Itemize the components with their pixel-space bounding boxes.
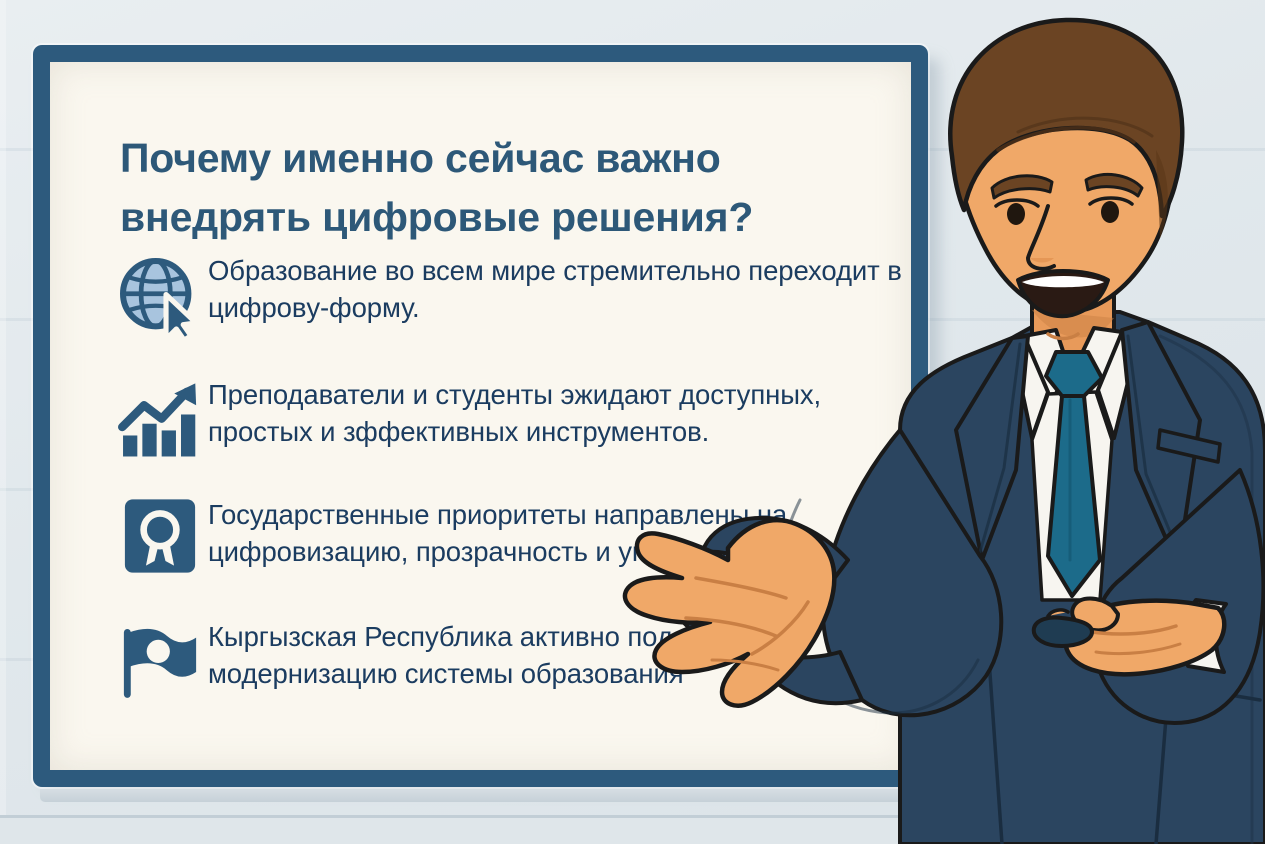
award-badge-icon — [112, 491, 208, 593]
slide-scene: Почему именно сейчас важно внедрять цифр… — [0, 0, 1265, 844]
growth-chart-icon — [112, 371, 208, 471]
presenter-illustration — [600, 0, 1265, 844]
flag-icon — [112, 613, 208, 713]
globe-cursor-icon — [112, 247, 208, 351]
